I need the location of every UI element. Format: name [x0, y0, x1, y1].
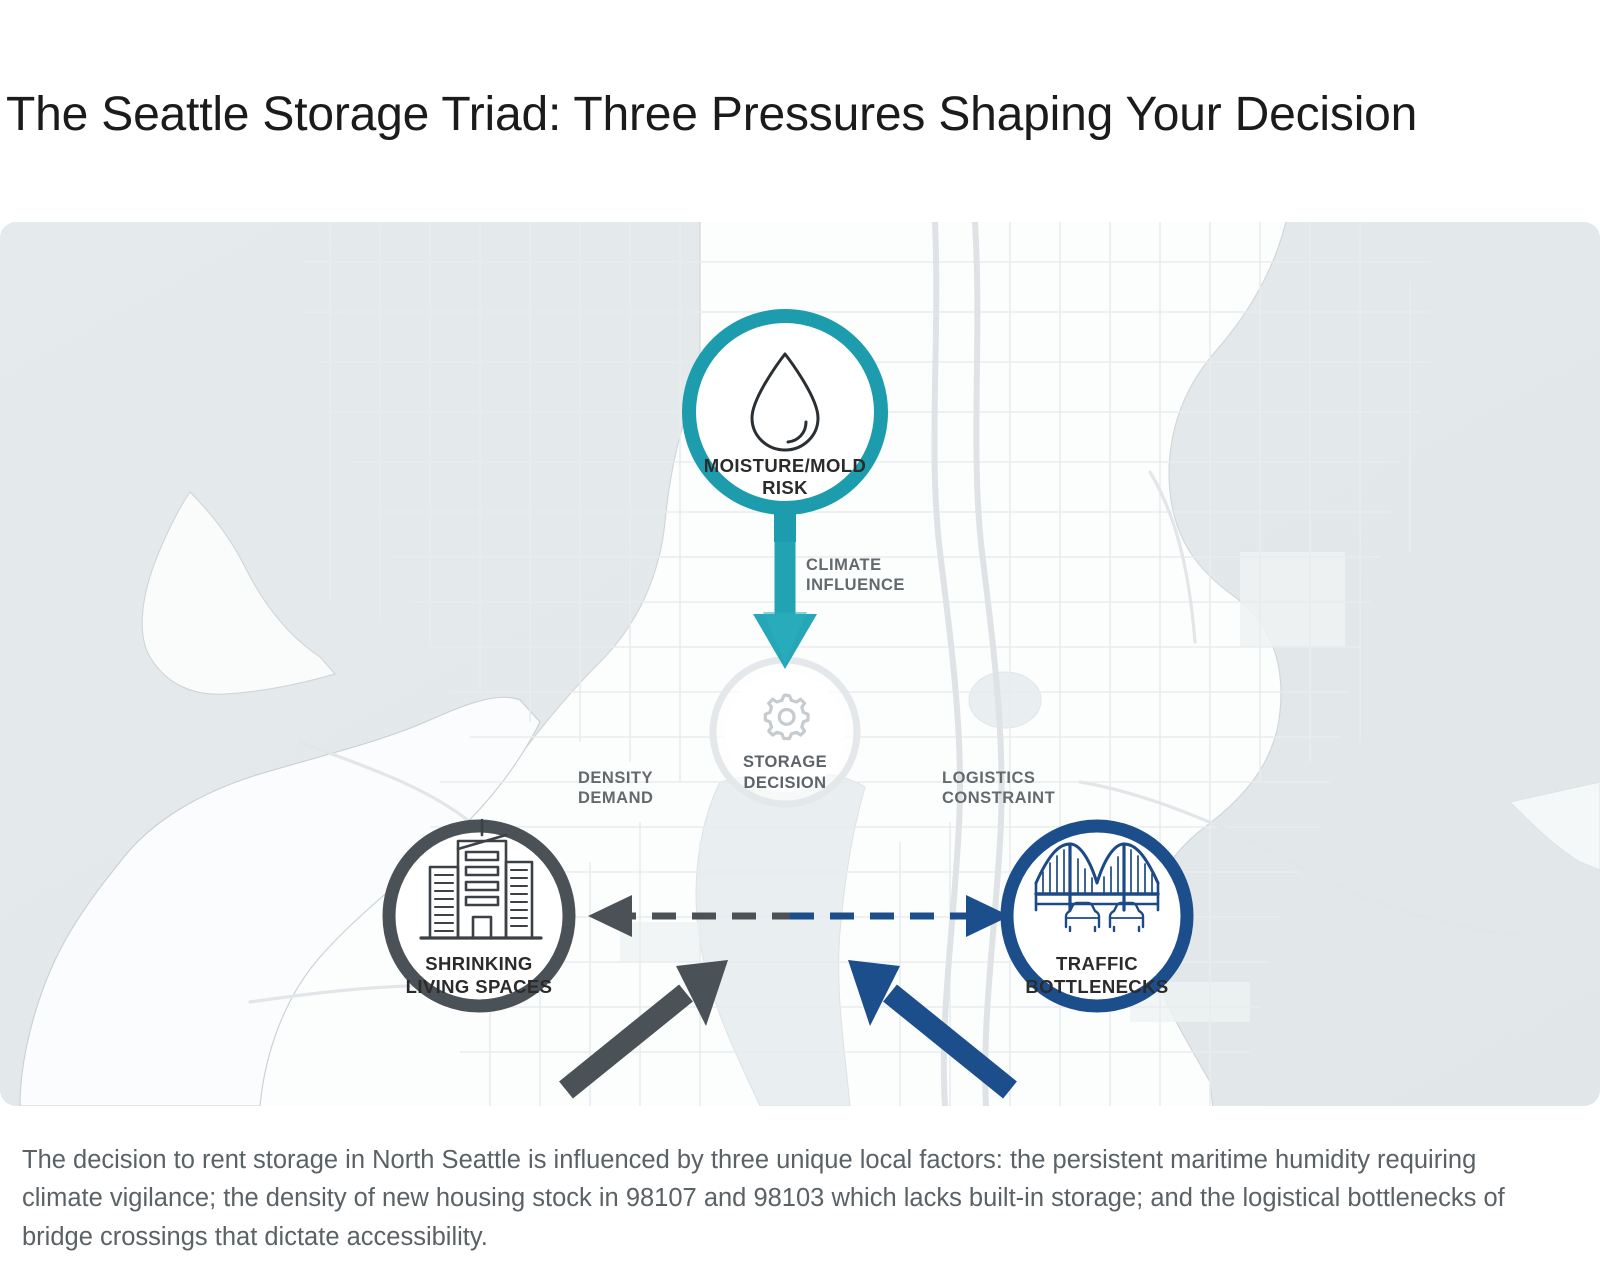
edge-density-demand [566, 960, 728, 1090]
dashed-arrow-left-head [588, 895, 632, 937]
page-title: The Seattle Storage Triad: Three Pressur… [6, 84, 1446, 145]
density-label-2: DEMAND [578, 789, 653, 807]
node-label-moisture-line2: RISK [762, 477, 808, 498]
node-label-traffic-line1: TRAFFIC [1056, 953, 1138, 974]
logistics-label-1: LOGISTICS [942, 769, 1035, 787]
influence-diagram: STORAGE DECISION CLIMATE INFLUENCE DENSI… [0, 222, 1600, 1106]
node-label-shrinking-line2: LIVING SPACES [406, 976, 553, 997]
density-label-1: DENSITY [578, 769, 653, 787]
center-label-line2: DECISION [744, 774, 827, 792]
node-moisture-mold-risk[interactable]: MOISTURE/MOLD RISK [689, 316, 881, 542]
node-label-traffic-line2: BOTTLENECKS [1025, 976, 1168, 997]
edge-lateral-link [588, 895, 1010, 937]
infographic-page: The Seattle Storage Triad: Three Pressur… [0, 0, 1600, 1278]
logistics-label-2: CONSTRAINT [942, 789, 1055, 807]
edge-label-climate-line2: INFLUENCE [806, 576, 905, 594]
map-panel: STORAGE DECISION CLIMATE INFLUENCE DENSI… [0, 222, 1600, 1106]
node-storage-decision[interactable]: STORAGE DECISION [713, 660, 857, 804]
edge-logistics-constraint [848, 960, 1010, 1090]
node-shrinking-living-spaces[interactable]: SHRINKING LIVING SPACES [389, 820, 569, 1006]
center-label-line1: STORAGE [743, 753, 827, 771]
node-label-shrinking-line1: SHRINKING [425, 953, 532, 974]
edge-label-climate-line1: CLIMATE [806, 556, 882, 574]
node-label-moisture-line1: MOISTURE/MOLD [704, 455, 866, 476]
node-traffic-bottlenecks[interactable]: TRAFFIC BOTTLENECKS [1007, 826, 1187, 1006]
figure-caption: The decision to rent storage in North Se… [22, 1141, 1552, 1257]
